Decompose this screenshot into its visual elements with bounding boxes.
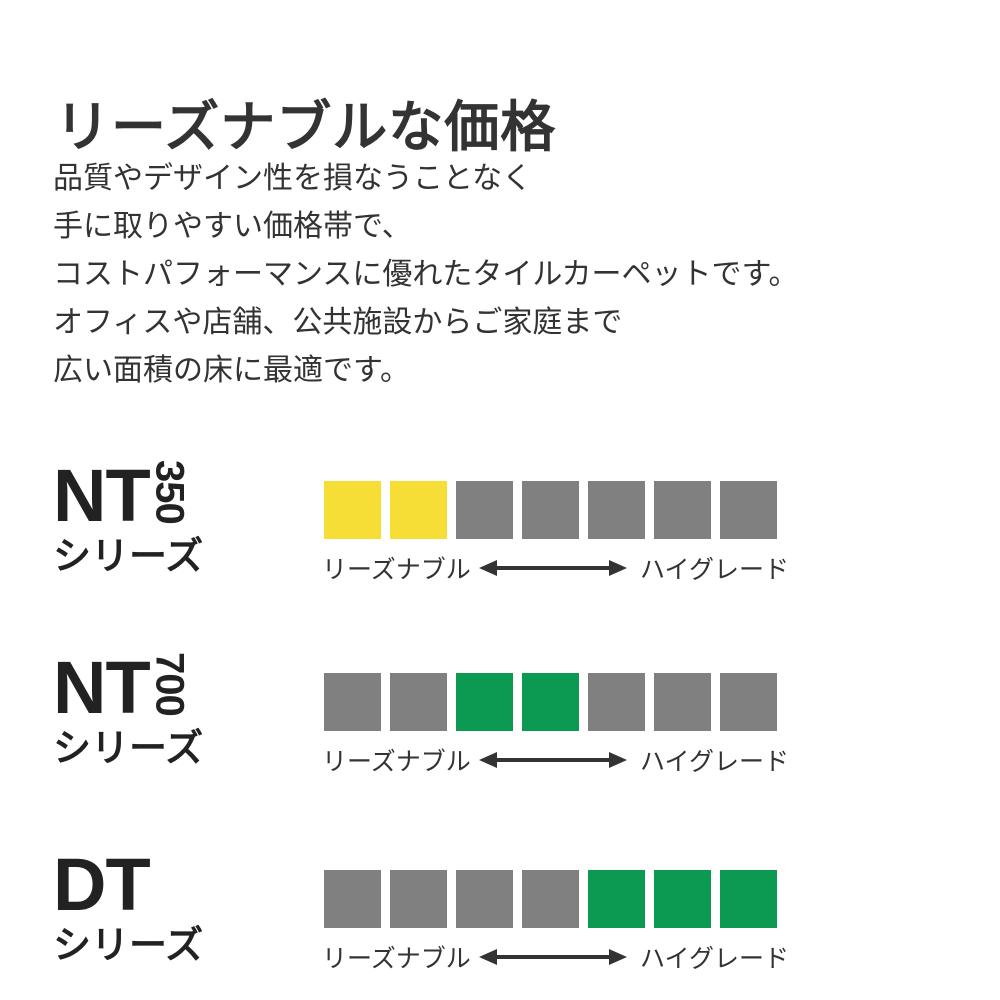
double-arrow-icon	[479, 946, 627, 968]
swatch-gray	[522, 870, 579, 928]
series-row: NT 700 シリーズ リーズナブル ハイグレード	[0, 654, 1000, 774]
series-suffix: シリーズ	[53, 925, 283, 967]
series-row: NT 350 シリーズ リーズナブル ハイグレード	[0, 462, 1000, 582]
scale-right-label: ハイグレード	[629, 742, 789, 778]
series-row: DT シリーズ リーズナブル ハイグレード	[0, 851, 1000, 971]
swatch-green	[522, 673, 579, 731]
description-line: コストパフォーマンスに優れたタイルカーペットです。	[53, 251, 799, 299]
scale-left-label: リーズナブル	[322, 550, 477, 586]
swatch-yellow	[390, 481, 447, 539]
swatch-gray	[390, 673, 447, 731]
series-code-block: NT 700	[53, 654, 283, 726]
series-label-dt: DT シリーズ	[53, 851, 283, 971]
swatch-gray	[588, 481, 645, 539]
swatch-strip	[324, 481, 777, 539]
swatch-strip	[324, 673, 777, 731]
scale-right-label: ハイグレード	[629, 939, 789, 975]
series-code: NT	[53, 462, 150, 530]
series-suffix: シリーズ	[53, 728, 283, 770]
description-line: 品質やデザイン性を損なうことなく	[53, 155, 799, 203]
series-code-block: DT	[53, 851, 283, 923]
grade-scale: リーズナブル ハイグレード	[322, 940, 792, 974]
swatch-yellow	[324, 481, 381, 539]
series-code-block: NT 350	[53, 462, 283, 534]
swatch-gray	[324, 870, 381, 928]
swatch-gray	[456, 870, 513, 928]
swatch-strip	[324, 870, 777, 928]
series-number: 350	[152, 460, 188, 528]
series-label-nt350: NT 350 シリーズ	[53, 462, 283, 582]
grade-scale: リーズナブル ハイグレード	[322, 743, 792, 777]
swatch-gray	[390, 870, 447, 928]
description-line: 手に取りやすい価格帯で、	[53, 203, 799, 251]
swatch-gray	[522, 481, 579, 539]
scale-left-label: リーズナブル	[322, 742, 477, 778]
page-title: リーズナブルな価格	[55, 97, 556, 158]
swatch-green	[456, 673, 513, 731]
swatch-gray	[654, 673, 711, 731]
description-text: 品質やデザイン性を損なうことなく 手に取りやすい価格帯で、 コストパフォーマンス…	[53, 155, 799, 395]
scale-right-label: ハイグレード	[629, 550, 789, 586]
pricing-infographic: リーズナブルな価格 品質やデザイン性を損なうことなく 手に取りやすい価格帯で、 …	[0, 0, 1000, 1000]
double-arrow-icon	[479, 749, 627, 771]
description-line: オフィスや店舗、公共施設からご家庭まで	[53, 299, 799, 347]
swatch-green	[720, 870, 777, 928]
swatch-green	[654, 870, 711, 928]
swatch-gray	[720, 673, 777, 731]
series-suffix: シリーズ	[53, 536, 283, 578]
grade-scale: リーズナブル ハイグレード	[322, 551, 792, 585]
series-code: NT	[53, 654, 150, 722]
swatch-gray	[588, 673, 645, 731]
swatch-green	[588, 870, 645, 928]
series-code: DT	[53, 851, 150, 919]
series-label-nt700: NT 700 シリーズ	[53, 654, 283, 774]
swatch-gray	[324, 673, 381, 731]
double-arrow-icon	[479, 557, 627, 579]
series-number: 700	[152, 652, 188, 720]
description-line: 広い面積の床に最適です。	[53, 347, 799, 395]
swatch-gray	[720, 481, 777, 539]
swatch-gray	[654, 481, 711, 539]
swatch-gray	[456, 481, 513, 539]
scale-left-label: リーズナブル	[322, 939, 477, 975]
